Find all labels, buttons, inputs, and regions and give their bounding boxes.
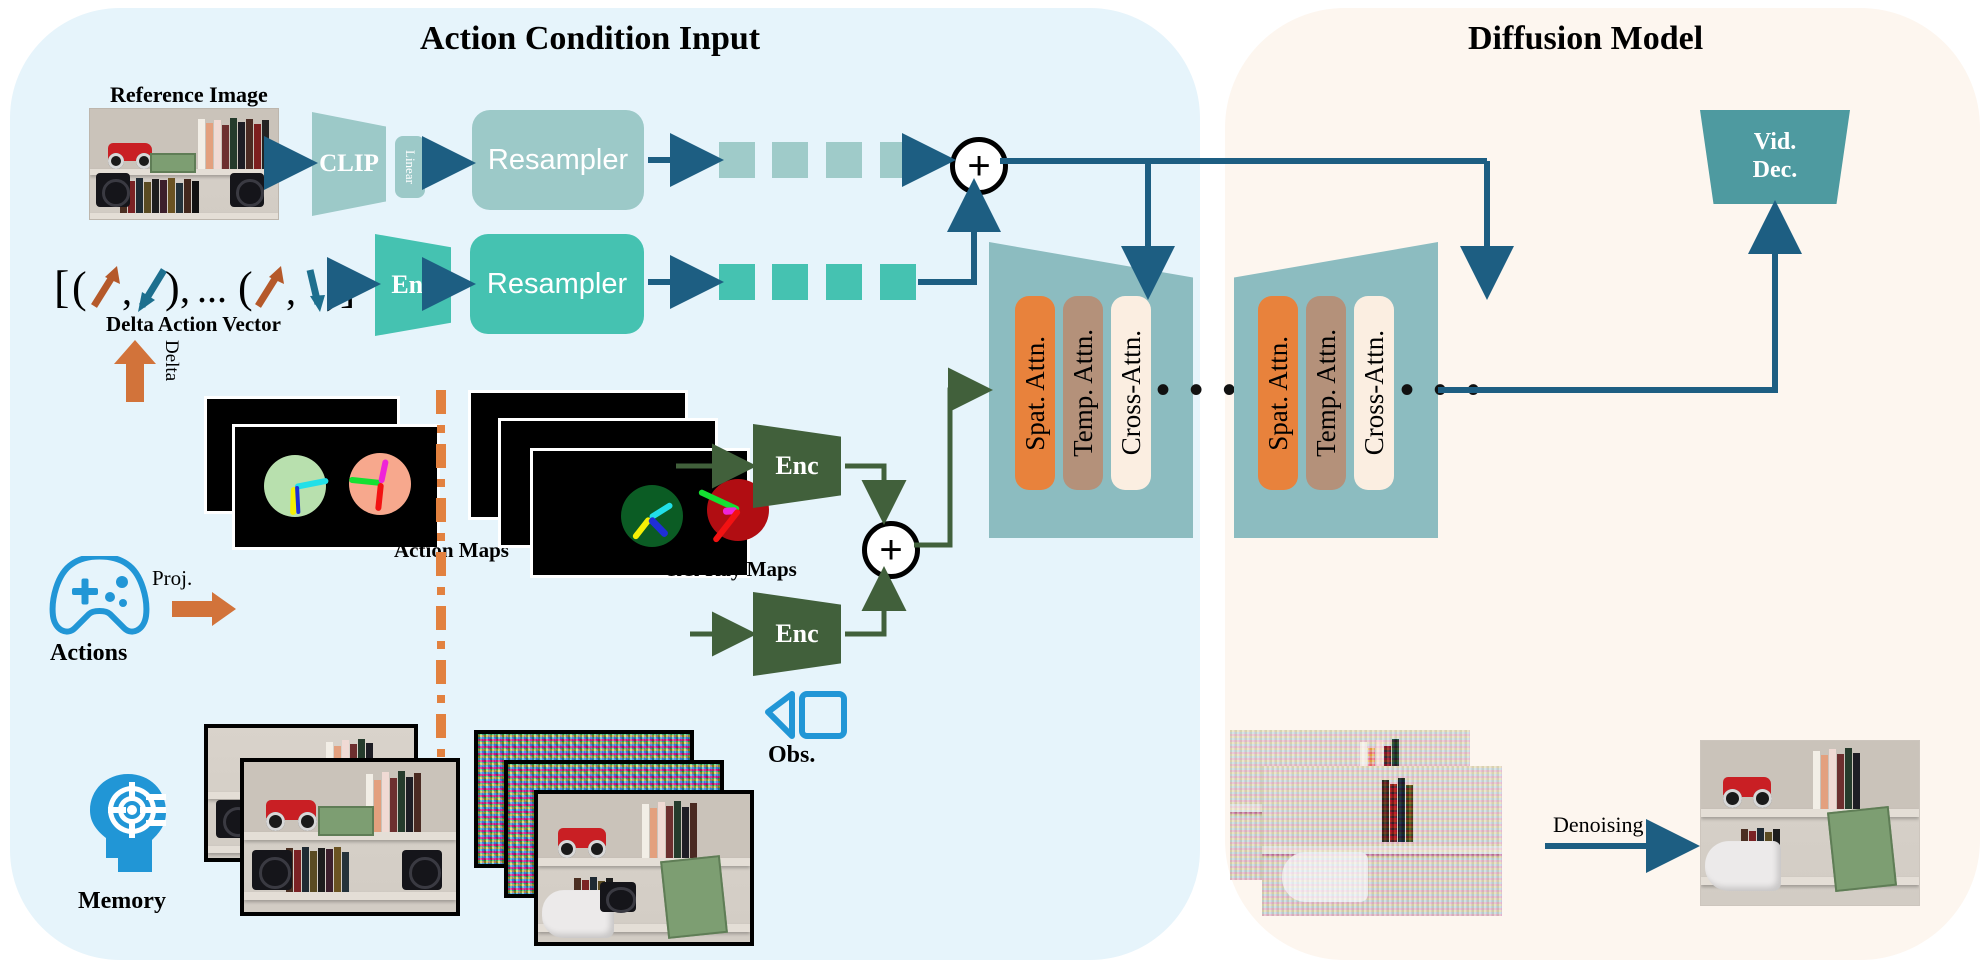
proj-label: Proj. xyxy=(152,566,192,591)
action-maps-label: Action Maps xyxy=(394,538,509,563)
spat-attn-up: Spat. Attn. xyxy=(1258,296,1298,490)
obs-label: Obs. xyxy=(768,742,815,769)
obs-photo-front xyxy=(534,790,754,946)
svg-text:,: , xyxy=(180,266,190,311)
diagram-canvas: Action Condition Input Diffusion Model R… xyxy=(0,0,1988,980)
clip-label: CLIP xyxy=(319,150,379,178)
svg-text:): ) xyxy=(326,263,341,312)
temp-attn-up-label: Temp. Attn. xyxy=(1311,329,1342,457)
enc-action-label: Enc xyxy=(391,270,434,300)
ray-maps-label: && Ray Maps xyxy=(665,557,797,582)
action-encoder-block: Enc xyxy=(375,234,451,336)
resampler-action-label: Resampler xyxy=(487,268,627,301)
resampler-action-block: Resampler xyxy=(470,234,644,334)
resampler-image-label: Resampler xyxy=(488,144,628,177)
delta-arrow-label: Delta xyxy=(160,340,182,381)
proj-right-arrow xyxy=(172,592,236,626)
linear-label: Linear xyxy=(402,150,418,184)
action-token-1 xyxy=(772,264,808,300)
action-token-0 xyxy=(719,264,755,300)
temp-attn-down: Temp. Attn. xyxy=(1063,296,1103,490)
panel-title-action-condition-input: Action Condition Input xyxy=(420,20,760,58)
cross-attn-up-label: Cross-Attn. xyxy=(1359,330,1390,455)
memory-brain-icon xyxy=(88,772,168,876)
plus-symbol-condition: + xyxy=(967,146,990,186)
delta-action-vector-caption: Delta Action Vector xyxy=(106,312,281,337)
image-token-3 xyxy=(880,142,916,178)
sum-node-condition: + xyxy=(950,137,1008,195)
svg-text:(: ( xyxy=(238,263,253,312)
vid-dec-line1: Vid. xyxy=(1754,129,1796,157)
temp-attn-up: Temp. Attn. xyxy=(1306,296,1346,490)
camera-obs-icon xyxy=(762,690,848,742)
clip-encoder-block: CLIP xyxy=(312,112,386,216)
resampler-image-block: Resampler xyxy=(472,110,644,210)
denoising-label: Denoising xyxy=(1553,812,1643,838)
svg-text:]: ] xyxy=(340,261,352,312)
svg-text:,: , xyxy=(286,268,296,313)
reference-image-photo xyxy=(89,108,279,220)
svg-text:,: , xyxy=(122,268,132,313)
spat-attn-down: Spat. Attn. xyxy=(1015,296,1055,490)
image-token-2 xyxy=(826,142,862,178)
temp-attn-down-label: Temp. Attn. xyxy=(1068,329,1099,457)
video-decoder-block: Vid. Dec. xyxy=(1700,110,1850,204)
delta-up-arrow xyxy=(112,340,158,402)
unet-up-ellipsis: • • • xyxy=(1400,370,1484,410)
reference-image-label: Reference Image xyxy=(110,82,268,108)
divider-dashdot xyxy=(436,390,446,760)
denoise-input-frame-front xyxy=(1262,766,1502,916)
svg-text:(: ( xyxy=(72,263,87,312)
action-map-frame-front xyxy=(232,424,440,550)
cross-attn-up: Cross-Attn. xyxy=(1354,296,1394,490)
spat-attn-up-label: Spat. Attn. xyxy=(1263,336,1294,451)
action-token-2 xyxy=(826,264,862,300)
svg-text:): ) xyxy=(165,263,180,312)
gamepad-icon xyxy=(42,556,157,640)
cross-attn-down: Cross-Attn. xyxy=(1111,296,1151,490)
obs-encoder-block: Enc xyxy=(753,592,841,676)
spat-attn-down-label: Spat. Attn. xyxy=(1020,336,1051,451)
action-token-3 xyxy=(880,264,916,300)
memory-label: Memory xyxy=(78,888,166,915)
unet-down-ellipsis: • • • xyxy=(1156,370,1240,410)
memory-photo-front xyxy=(240,758,460,916)
denoise-output-photo xyxy=(1700,740,1920,906)
cross-attn-down-label: Cross-Attn. xyxy=(1116,330,1147,455)
action-map-encoder-block: Enc xyxy=(753,424,841,508)
enc-action-map-label: Enc xyxy=(775,451,818,481)
image-token-1 xyxy=(772,142,808,178)
sum-node-latent: + xyxy=(862,521,920,579)
image-token-0 xyxy=(719,142,755,178)
enc-obs-label: Enc xyxy=(775,619,818,649)
panel-title-diffusion-model: Diffusion Model xyxy=(1468,20,1703,58)
delta-action-vector-expression: [ ( , ) , ... ( , ) ] xyxy=(52,250,352,320)
linear-layer-block: Linear xyxy=(395,136,425,198)
vid-dec-line2: Dec. xyxy=(1753,157,1798,185)
plus-symbol-latent: + xyxy=(879,530,902,570)
svg-text:...: ... xyxy=(197,266,227,311)
svg-text:[: [ xyxy=(54,261,69,312)
actions-label: Actions xyxy=(50,640,127,667)
